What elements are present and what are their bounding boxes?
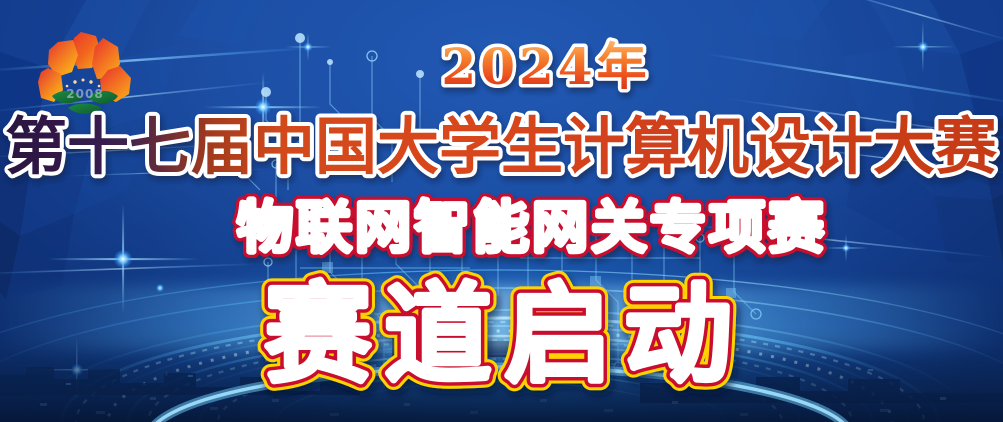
event-banner: 2008 <box>0 0 1003 422</box>
emblem-year-text: 2008 <box>66 87 103 101</box>
tech-ring-floor <box>0 207 1003 422</box>
contest-emblem: 2008 <box>28 18 140 130</box>
